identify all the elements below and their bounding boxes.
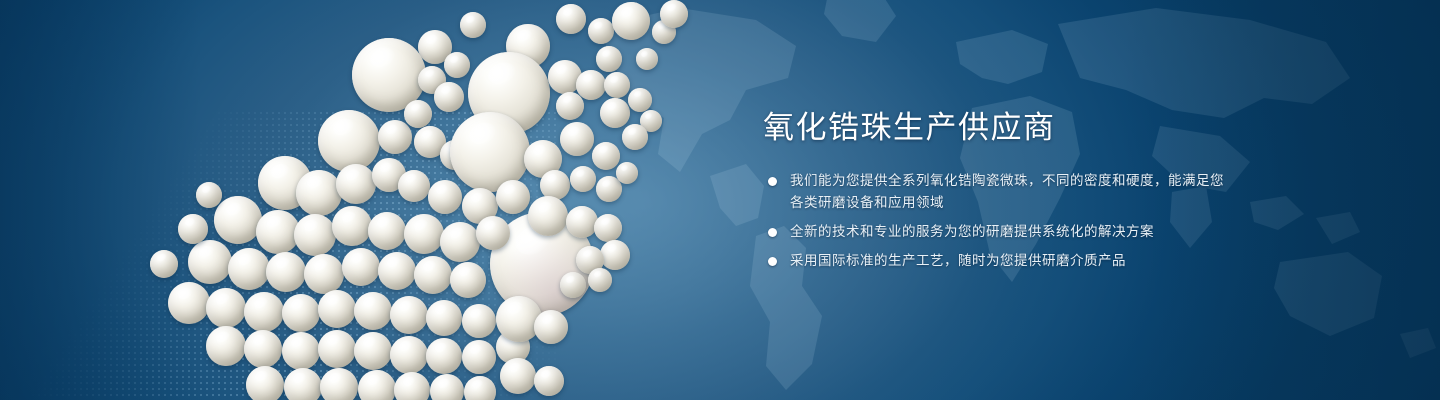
list-item-label: 全新的技术和专业的服务为您的研磨提供系统化的解决方案 — [790, 224, 1154, 239]
list-item-label: 我们能为您提供全系列氧化锆陶瓷微珠，不同的密度和硬度，能满足您各类研磨设备和应用… — [790, 173, 1224, 210]
list-item: 采用国际标准的生产工艺，随时为您提供研磨介质产品 — [763, 250, 1233, 272]
list-item: 全新的技术和专业的服务为您的研磨提供系统化的解决方案 — [763, 221, 1233, 243]
bullet-dot-icon — [768, 257, 777, 266]
page-title: 氧化锆珠生产供应商 — [763, 108, 1233, 148]
hero-banner: 氧化锆珠生产供应商 我们能为您提供全系列氧化锆陶瓷微珠，不同的密度和硬度，能满足… — [0, 0, 1440, 400]
zirconia-bead-cluster-icon — [0, 0, 720, 400]
banner-copy: 氧化锆珠生产供应商 我们能为您提供全系列氧化锆陶瓷微珠，不同的密度和硬度，能满足… — [763, 108, 1233, 272]
list-item-label: 采用国际标准的生产工艺，随时为您提供研磨介质产品 — [790, 253, 1126, 268]
bullet-dot-icon — [768, 177, 777, 186]
feature-list: 我们能为您提供全系列氧化锆陶瓷微珠，不同的密度和硬度，能满足您各类研磨设备和应用… — [763, 170, 1233, 272]
list-item: 我们能为您提供全系列氧化锆陶瓷微珠，不同的密度和硬度，能满足您各类研磨设备和应用… — [763, 170, 1233, 214]
bullet-dot-icon — [768, 228, 777, 237]
